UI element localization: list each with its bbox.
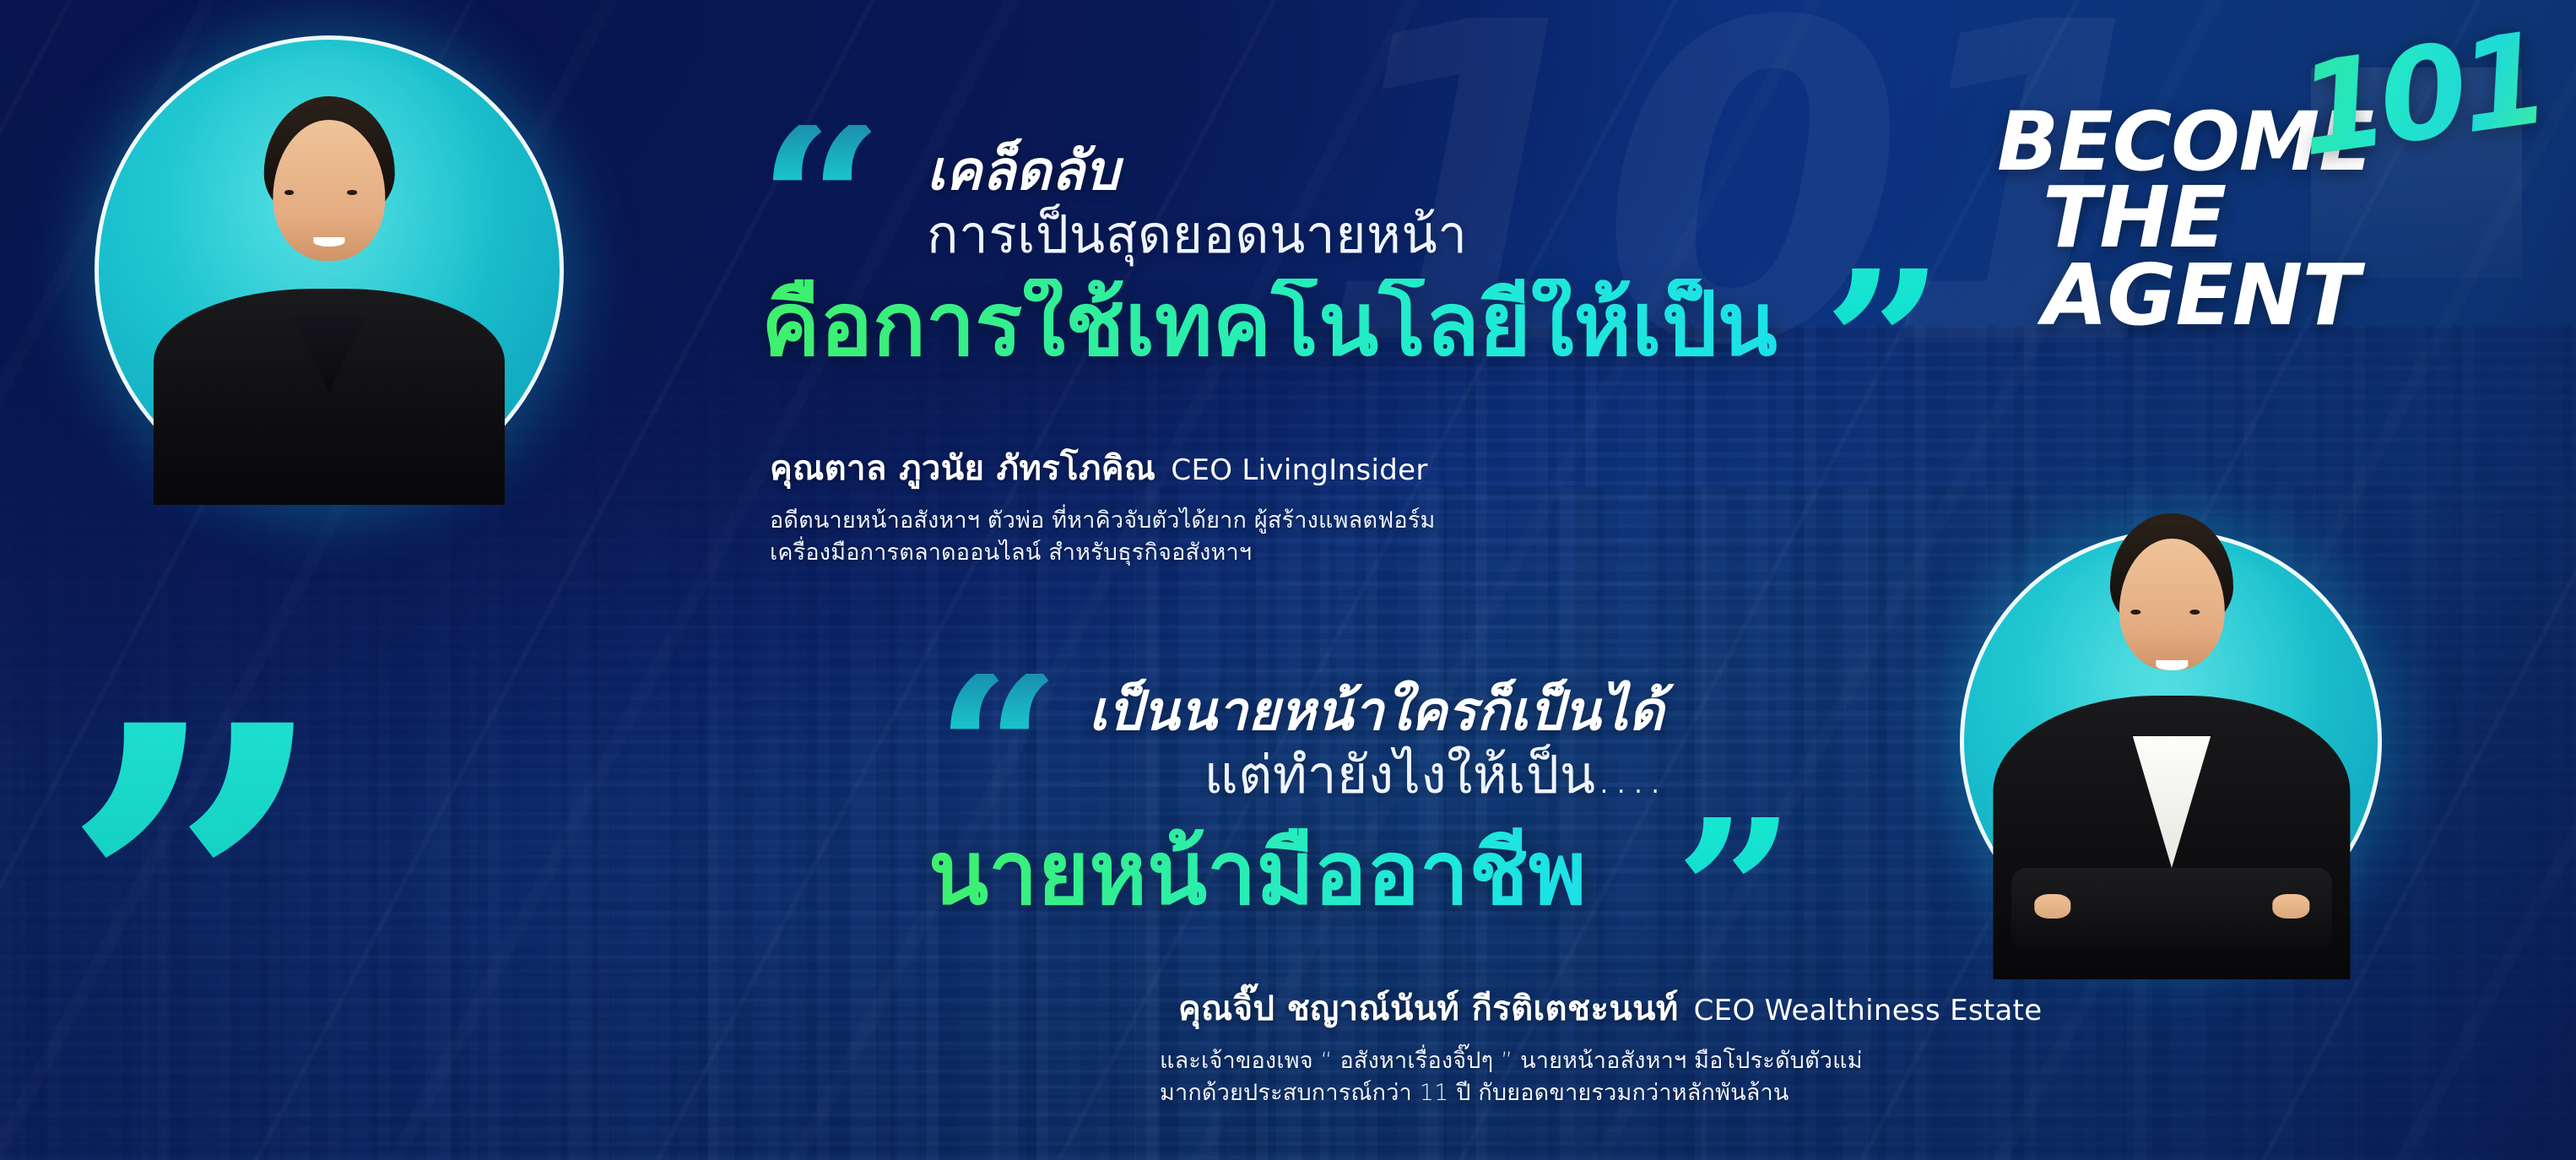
decorative-quote-mark: ”	[59, 718, 331, 1087]
quote-open-mark-2: “	[935, 674, 1062, 832]
speaker-desc-2-line-2: มากด้วยประสบการณ์กว่า 11 ปี กับยอดขายรวม…	[1160, 1077, 2042, 1109]
person-silhouette-male	[104, 35, 555, 505]
hand-right-shape	[2273, 894, 2309, 919]
promo-banner: 101 ”	[0, 0, 2576, 1160]
speaker-desc-1-line-1: อดีตนายหน้าอสังหาฯ ตัวพ่อ ที่หาคิวจับตัว…	[770, 505, 1436, 537]
logo-badge-101: 101	[2291, 16, 2550, 176]
headline-green-2: นายหน้ามืออาชีพ	[928, 827, 1587, 919]
attribution-block-1: คุณตาล ภูวนัย ภัทรโภคิณ CEO LivingInside…	[770, 441, 1436, 570]
quote-close-mark-2: ”	[1675, 817, 1796, 969]
quote-line-2-sub: แต่ทำยังไงให้เป็น....	[1089, 745, 1664, 804]
attribution-block-2: คุณจิ๊ป ชญาณ์นันท์ กีรติเตชะนนท์ CEO Wea…	[1178, 981, 2042, 1110]
eye-right-shape	[347, 190, 357, 195]
speaker-name-2: คุณจิ๊ป ชญาณ์นันท์ กีรติเตชะนนท์	[1178, 981, 1679, 1035]
speaker-desc-1-line-2: เครื่องมือการตลาดออนไลน์ สำหรับธุรกิจอสั…	[770, 537, 1436, 569]
logo-line-the-agent: THE AGENT	[2043, 179, 2537, 334]
person-silhouette-female	[1942, 473, 2400, 979]
speaker-role-1: CEO LivingInsider	[1171, 453, 1427, 487]
smile-shape-2	[2156, 660, 2188, 670]
eye-left-shape-2	[2130, 610, 2140, 615]
quote-line-1-sub: การเป็นสุดยอดนายหน้า	[927, 205, 1468, 263]
quote-open-mark-1: “	[758, 125, 885, 283]
portrait-living-insider	[95, 35, 564, 505]
speaker-role-2: CEO Wealthiness Estate	[1694, 994, 2043, 1027]
quote-text-block-1: เคล็ดลับ การเป็นสุดยอดนายหน้า	[927, 144, 1468, 264]
quote-close-mark-1: ”	[1823, 268, 1945, 420]
speaker-desc-2-line-1: และเจ้าของเพจ “ อสังหาเรื่องจิ๊ปๆ ” นายห…	[1160, 1045, 2042, 1077]
headline-green-1: คือการใช้เทคโนโลยีให้เป็น	[761, 279, 1778, 371]
speaker-name-1: คุณตาล ภูวนัย ภัทรโภคิณ	[770, 441, 1155, 495]
quote-text-block-2: เป็นนายหน้าใครก็เป็นได้ แต่ทำยังไงให้เป็…	[1089, 684, 1664, 805]
eye-left-shape	[284, 190, 295, 195]
hand-left-shape	[2034, 894, 2070, 919]
quote-line-1-top: เคล็ดลับ	[927, 144, 1468, 200]
quote-line-2-top: เป็นนายหน้าใครก็เป็นได้	[1089, 684, 1664, 740]
person-silhouette-female-wrap	[1933, 473, 2411, 979]
logo-become-the-agent[interactable]: BECOME THE AGENT 101	[1997, 37, 2537, 274]
